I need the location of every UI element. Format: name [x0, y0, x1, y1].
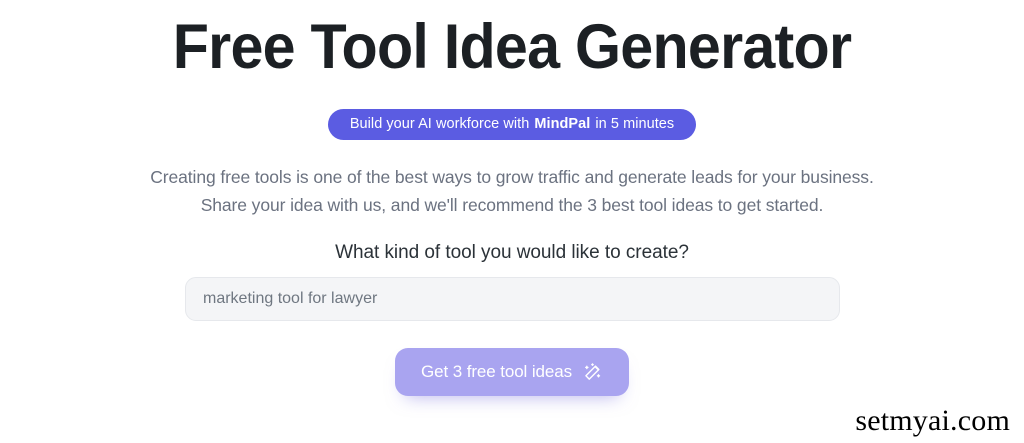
get-tool-ideas-button[interactable]: Get 3 free tool ideas [395, 348, 629, 396]
promo-badge-text-before: Build your AI workforce with [350, 116, 534, 132]
site-watermark: setmyai.com [855, 404, 1010, 438]
promo-badge-brand: MindPal [533, 116, 591, 132]
description-line-1: Creating free tools is one of the best w… [0, 163, 1024, 191]
tool-idea-generator-page: Free Tool Idea Generator Build your AI w… [0, 0, 1024, 443]
get-tool-ideas-label: Get 3 free tool ideas [421, 362, 572, 382]
tool-description-input[interactable] [185, 277, 840, 321]
promo-badge-row: Build your AI workforce with MindPal in … [0, 109, 1024, 140]
promo-badge-text-after: in 5 minutes [591, 116, 674, 132]
description-line-2: Share your idea with us, and we'll recom… [0, 191, 1024, 219]
page-title: Free Tool Idea Generator [31, 11, 994, 83]
tool-input-wrapper [185, 277, 840, 321]
magic-wand-icon [583, 362, 603, 382]
tool-input-label: What kind of tool you would like to crea… [0, 240, 1024, 266]
page-description: Creating free tools is one of the best w… [0, 163, 1024, 219]
promo-badge[interactable]: Build your AI workforce with MindPal in … [328, 109, 696, 140]
submit-row: Get 3 free tool ideas [0, 348, 1024, 396]
